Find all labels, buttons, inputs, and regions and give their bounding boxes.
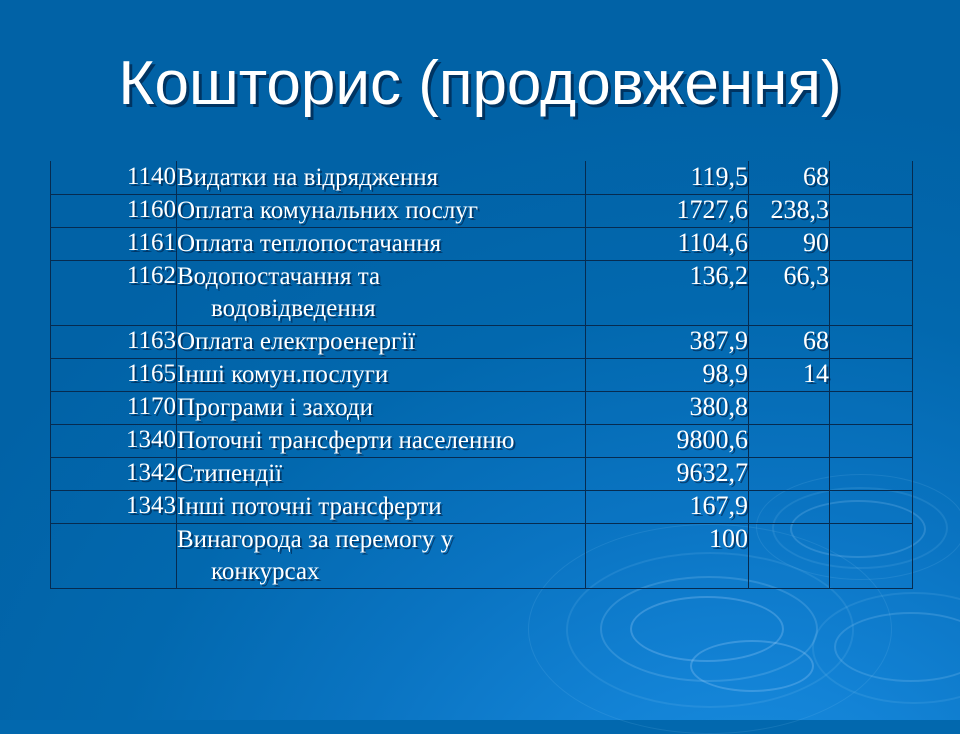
cell-name: Програми і заходи xyxy=(177,392,586,425)
cell-value2 xyxy=(749,524,830,589)
cell-name-line1: Водопостачання та xyxy=(177,263,380,290)
cell-value3 xyxy=(830,359,913,392)
cell-value2: 14 xyxy=(749,359,830,392)
cell-code: 1161 xyxy=(51,228,177,261)
cell-name-line2: водовідведення xyxy=(177,293,585,325)
cell-value2: 68 xyxy=(749,162,830,195)
table-row: 1343Інші поточні трансферти167,9 xyxy=(51,491,913,524)
cell-value3 xyxy=(830,524,913,589)
cell-value1: 98,9 xyxy=(586,359,749,392)
cell-value1: 380,8 xyxy=(586,392,749,425)
cell-value3 xyxy=(830,392,913,425)
background-ripple-circle xyxy=(630,596,784,662)
cell-name-line1: Видатки на відрядження xyxy=(177,164,438,191)
cell-value3 xyxy=(830,326,913,359)
cell-value1: 387,9 xyxy=(586,326,749,359)
cell-name-line1: Оплата комунальних послуг xyxy=(177,197,478,224)
table-row: 1140Видатки на відрядження119,568 xyxy=(51,162,913,195)
cell-code: 1165 xyxy=(51,359,177,392)
cell-value1: 167,9 xyxy=(586,491,749,524)
cell-name: Оплата комунальних послуг xyxy=(177,195,586,228)
table-row: 1160Оплата комунальних послуг1727,6238,3 xyxy=(51,195,913,228)
cell-value2 xyxy=(749,425,830,458)
cell-name-line1: Стипендії xyxy=(177,460,282,487)
cell-value3 xyxy=(830,228,913,261)
table-row: 1163Оплата електроенергії387,968 xyxy=(51,326,913,359)
cell-code: 1140 xyxy=(51,162,177,195)
cell-name-line1: Інші поточні трансферти xyxy=(177,493,442,520)
background-ripple-circle xyxy=(834,612,960,682)
cell-value2 xyxy=(749,392,830,425)
cell-value3 xyxy=(830,425,913,458)
cell-value3 xyxy=(830,491,913,524)
cell-code: 1340 xyxy=(51,425,177,458)
table-row: 1162Водопостачання таводовідведення136,2… xyxy=(51,261,913,326)
cell-value2 xyxy=(749,458,830,491)
cell-value3 xyxy=(830,195,913,228)
table-row: Винагорода за перемогу уконкурсах100 xyxy=(51,524,913,589)
cell-name-line1: Поточні трансферти населенню xyxy=(177,427,514,454)
cell-value2 xyxy=(749,491,830,524)
cell-name-line1: Інші комун.послуги xyxy=(177,361,388,388)
cell-name-line2: конкурсах xyxy=(177,556,585,588)
cell-name-line1: Оплата електроенергії xyxy=(177,328,415,355)
cell-name: Видатки на відрядження xyxy=(177,162,586,195)
background-ripple-circle xyxy=(812,592,960,704)
cell-name: Оплата теплопостачання xyxy=(177,228,586,261)
background-ripple-circle xyxy=(690,640,814,692)
cell-name: Інші комун.послуги xyxy=(177,359,586,392)
cell-name: Винагорода за перемогу уконкурсах xyxy=(177,524,586,589)
cell-code: 1162 xyxy=(51,261,177,326)
cell-name: Оплата електроенергії xyxy=(177,326,586,359)
table-row: 1161Оплата теплопостачання1104,690 xyxy=(51,228,913,261)
cell-value1: 9632,7 xyxy=(586,458,749,491)
cell-value2: 66,3 xyxy=(749,261,830,326)
cell-value3 xyxy=(830,458,913,491)
cell-code: 1163 xyxy=(51,326,177,359)
cell-value1: 1104,6 xyxy=(586,228,749,261)
cell-value1: 136,2 xyxy=(586,261,749,326)
table-row: 1342Стипендії9632,7 xyxy=(51,458,913,491)
cell-value1: 9800,6 xyxy=(586,425,749,458)
cell-code: 1160 xyxy=(51,195,177,228)
table-row: 1170Програми і заходи380,8 xyxy=(51,392,913,425)
cell-name: Стипендії xyxy=(177,458,586,491)
cell-code: 1343 xyxy=(51,491,177,524)
cell-value2: 68 xyxy=(749,326,830,359)
table-row: 1165Інші комун.послуги98,914 xyxy=(51,359,913,392)
cell-value3 xyxy=(830,162,913,195)
budget-table: 1140Видатки на відрядження119,568 1160Оп… xyxy=(50,161,913,589)
cell-name: Поточні трансферти населенню xyxy=(177,425,586,458)
cell-name: Інші поточні трансферти xyxy=(177,491,586,524)
cell-value2: 90 xyxy=(749,228,830,261)
page-title: Кошторис (продовження) xyxy=(0,46,960,122)
cell-value2: 238,3 xyxy=(749,195,830,228)
background-ripple-circle xyxy=(600,576,818,682)
cell-value3 xyxy=(830,261,913,326)
cell-value1: 100 xyxy=(586,524,749,589)
cell-code: 1342 xyxy=(51,458,177,491)
table-row: 1340Поточні трансферти населенню9800,6 xyxy=(51,425,913,458)
cell-code: 1170 xyxy=(51,392,177,425)
cell-value1: 119,5 xyxy=(586,162,749,195)
cell-code xyxy=(51,524,177,589)
cell-name-line1: Оплата теплопостачання xyxy=(177,230,441,257)
cell-value1: 1727,6 xyxy=(586,195,749,228)
cell-name-line1: Програми і заходи xyxy=(177,394,373,421)
cell-name-line1: Винагорода за перемогу у xyxy=(177,526,453,553)
cell-name: Водопостачання таводовідведення xyxy=(177,261,586,326)
